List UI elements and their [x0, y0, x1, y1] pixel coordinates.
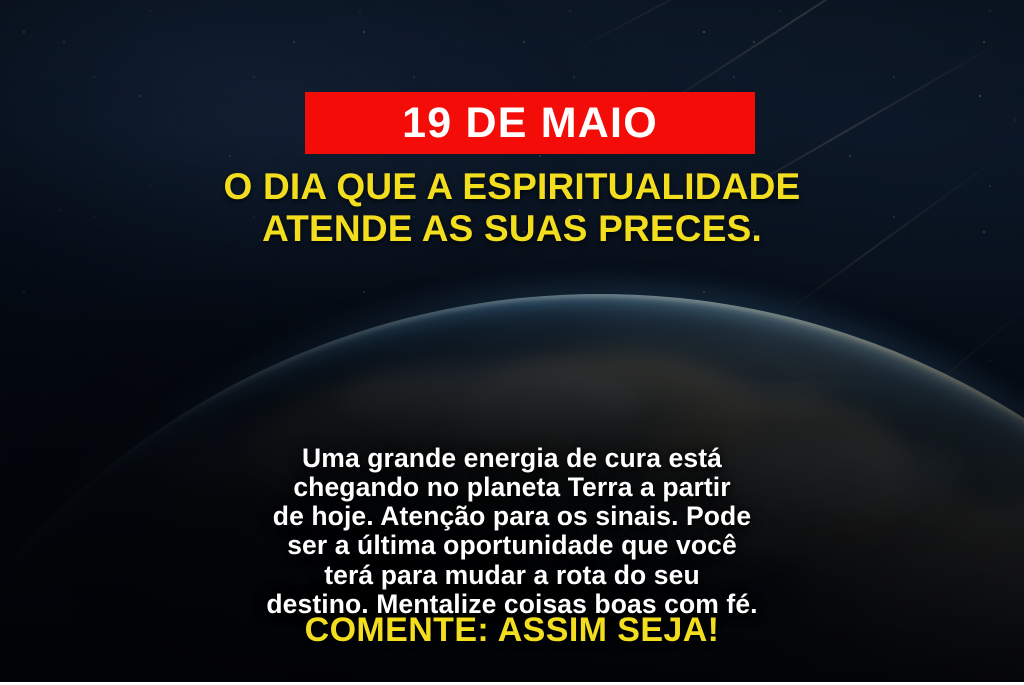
body-line-1: Uma grande energia de cura está: [46, 444, 978, 473]
body-copy: Uma grande energia de cura está chegando…: [0, 444, 1024, 619]
headline: O DIA QUE A ESPIRITUALIDADE ATENDE AS SU…: [0, 166, 1024, 250]
date-banner: 19 DE MAIO: [305, 92, 755, 154]
body-line-5: terá para mudar a rota do seu: [46, 561, 978, 590]
poster-content: 19 DE MAIO O DIA QUE A ESPIRITUALIDADE A…: [0, 0, 1024, 685]
poster-canvas: 19 DE MAIO O DIA QUE A ESPIRITUALIDADE A…: [0, 0, 1024, 685]
body-line-4: ser a última oportunidade que você: [46, 531, 978, 560]
body-line-3: de hoje. Atenção para os sinais. Pode: [46, 502, 978, 531]
call-to-action: COMENTE: ASSIM SEJA!: [0, 612, 1024, 649]
body-line-2: chegando no planeta Terra a partir: [46, 473, 978, 502]
headline-line-1: O DIA QUE A ESPIRITUALIDADE: [40, 166, 984, 208]
date-banner-label: 19 DE MAIO: [402, 102, 658, 145]
headline-line-2: ATENDE AS SUAS PRECES.: [40, 208, 984, 250]
